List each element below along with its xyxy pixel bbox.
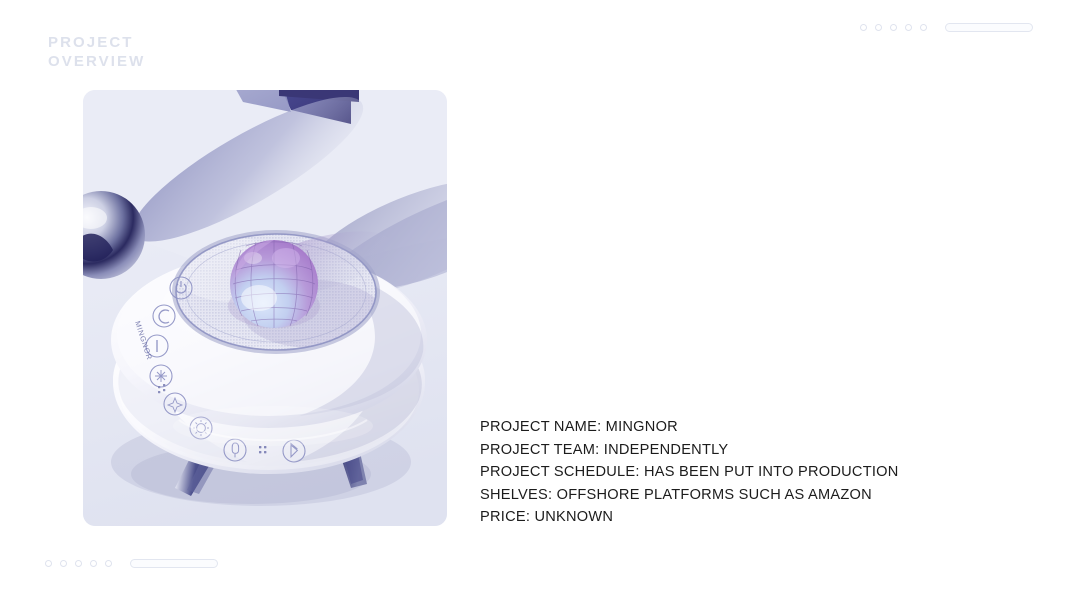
indicator-dot-group: [45, 560, 112, 567]
spec-project-name: PROJECT NAME: MINGNOR: [480, 416, 1000, 439]
indicator-dot[interactable]: [60, 560, 67, 567]
indicator-dot[interactable]: [905, 24, 912, 31]
spec-shelves: SHELVES: OFFSHORE PLATFORMS SUCH AS AMAZ…: [480, 484, 1000, 507]
indicator-dot[interactable]: [90, 560, 97, 567]
indicator-dot[interactable]: [920, 24, 927, 31]
indicator-dot[interactable]: [105, 560, 112, 567]
spec-project-schedule: PROJECT SCHEDULE: HAS BEEN PUT INTO PROD…: [480, 461, 1000, 484]
project-spec-list: PROJECT NAME: MINGNOR PROJECT TEAM: INDE…: [480, 416, 1000, 529]
indicator-dot-group: [860, 24, 927, 31]
indicator-dot[interactable]: [860, 24, 867, 31]
product-image: MINGNOR: [83, 90, 447, 526]
indicator-dot[interactable]: [890, 24, 897, 31]
spec-project-team: PROJECT TEAM: INDEPENDENTLY: [480, 439, 1000, 462]
indicator-progress-bar[interactable]: [945, 23, 1033, 32]
page-title: PROJECT OVERVIEW: [48, 33, 145, 71]
spec-price: PRICE: UNKNOWN: [480, 506, 1000, 529]
indicator-progress-bar[interactable]: [130, 559, 218, 568]
page-indicator-bottom-left: [45, 559, 218, 568]
indicator-dot[interactable]: [75, 560, 82, 567]
indicator-dot[interactable]: [45, 560, 52, 567]
indicator-dot[interactable]: [875, 24, 882, 31]
page-indicator-top-right: [860, 23, 1033, 32]
slide-canvas: PROJECT OVERVIEW: [0, 0, 1076, 600]
